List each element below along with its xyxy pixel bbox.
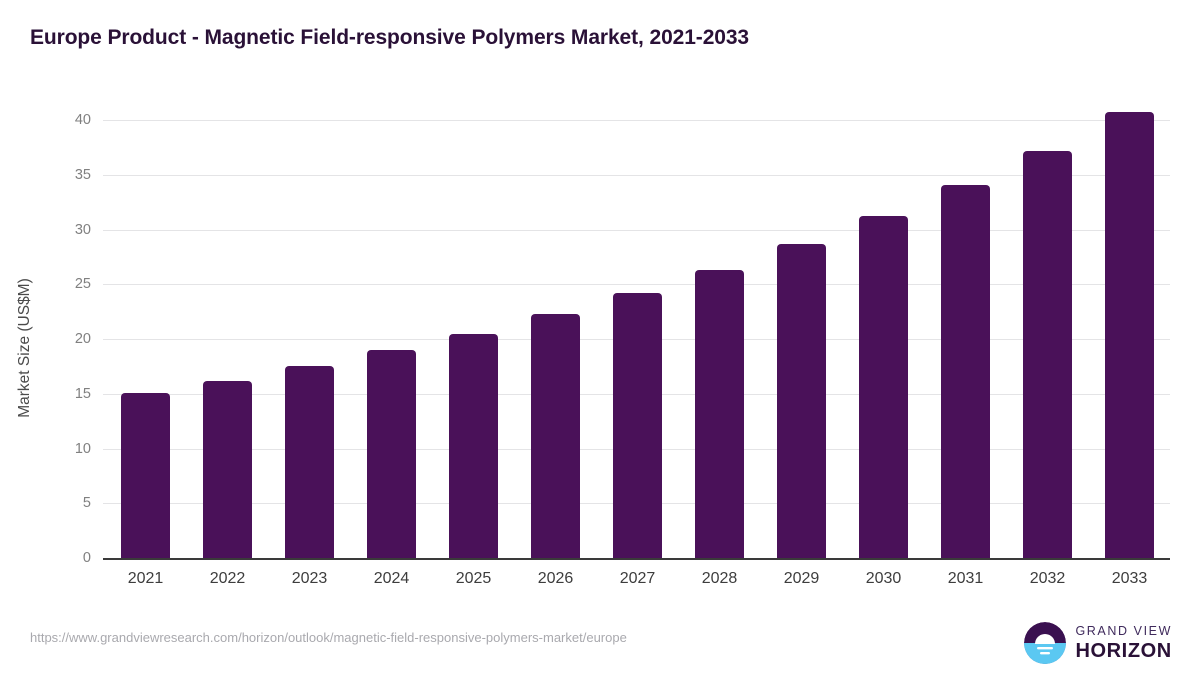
gridline xyxy=(103,230,1170,231)
bar[interactable] xyxy=(859,216,908,558)
x-axis-tick-label: 2030 xyxy=(839,570,929,588)
y-axis-tick-label: 25 xyxy=(31,276,91,292)
y-axis-tick-label: 35 xyxy=(31,167,91,183)
bar[interactable] xyxy=(1023,151,1072,558)
page-title: Europe Product - Magnetic Field-responsi… xyxy=(30,26,749,50)
y-axis-tick-label: 0 xyxy=(31,550,91,566)
bar[interactable] xyxy=(203,381,252,558)
brand-name-line2: HORIZON xyxy=(1075,641,1172,661)
x-axis-tick-label: 2024 xyxy=(347,570,437,588)
x-axis-line xyxy=(103,558,1170,560)
bar[interactable] xyxy=(285,366,334,558)
bar[interactable] xyxy=(613,293,662,558)
plot-area xyxy=(103,120,1170,558)
brand-name-line1: GRAND VIEW xyxy=(1075,625,1172,638)
bar[interactable] xyxy=(777,244,826,558)
x-axis-tick-label: 2028 xyxy=(675,570,765,588)
bar[interactable] xyxy=(695,270,744,558)
x-axis-tick-label: 2022 xyxy=(183,570,273,588)
gridline xyxy=(103,175,1170,176)
bar[interactable] xyxy=(449,334,498,558)
bar[interactable] xyxy=(121,393,170,558)
x-axis-tick-label: 2027 xyxy=(593,570,683,588)
brand-logo-text: GRAND VIEW HORIZON xyxy=(1075,625,1172,661)
bar[interactable] xyxy=(531,314,580,558)
x-axis-tick-label: 2026 xyxy=(511,570,601,588)
x-axis-tick-label: 2029 xyxy=(757,570,847,588)
y-axis-tick-labels: 0510152025303540 xyxy=(13,0,91,675)
x-axis-tick-label: 2032 xyxy=(1003,570,1093,588)
y-axis-tick-label: 20 xyxy=(31,331,91,347)
x-axis-tick-label: 2033 xyxy=(1085,570,1175,588)
x-axis-tick-label: 2023 xyxy=(265,570,355,588)
horizon-sunrise-icon xyxy=(1024,622,1066,664)
gridline xyxy=(103,120,1170,121)
x-axis-tick-label: 2021 xyxy=(101,570,191,588)
y-axis-tick-label: 30 xyxy=(31,222,91,238)
x-axis-tick-label: 2025 xyxy=(429,570,519,588)
bar[interactable] xyxy=(1105,112,1154,558)
x-axis-tick-label: 2031 xyxy=(921,570,1011,588)
brand-logo[interactable]: GRAND VIEW HORIZON xyxy=(1024,622,1172,664)
bar[interactable] xyxy=(941,185,990,558)
chart-canvas: Europe Product - Magnetic Field-responsi… xyxy=(0,0,1200,675)
bar[interactable] xyxy=(367,350,416,558)
gridline xyxy=(103,284,1170,285)
source-url[interactable]: https://www.grandviewresearch.com/horizo… xyxy=(30,630,627,645)
y-axis-tick-label: 5 xyxy=(31,495,91,511)
y-axis-tick-label: 15 xyxy=(31,386,91,402)
y-axis-tick-label: 10 xyxy=(31,441,91,457)
y-axis-tick-label: 40 xyxy=(31,112,91,128)
